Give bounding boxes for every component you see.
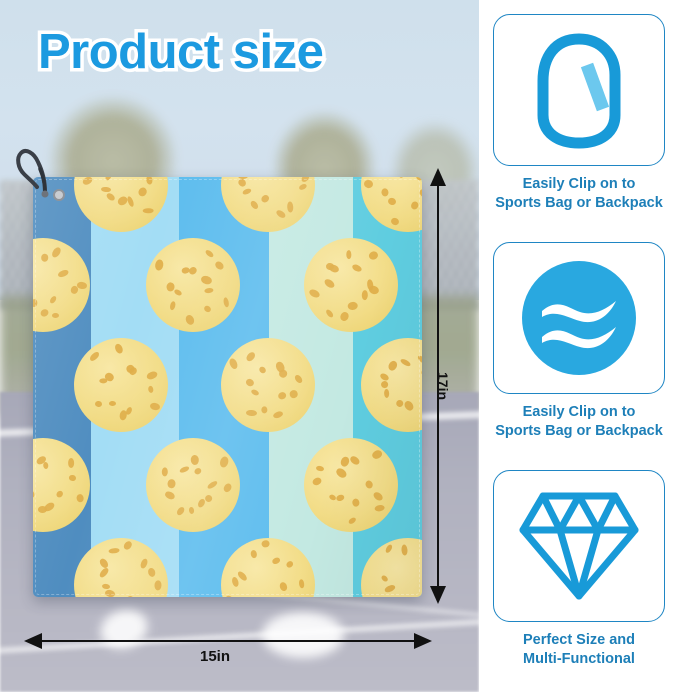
pickleball-hole	[33, 271, 35, 280]
pickleball-hole	[187, 265, 198, 276]
pickleball-hole	[203, 287, 213, 293]
pickleball-hole	[230, 576, 239, 588]
diamond-icon	[516, 488, 642, 604]
pickleball-hole	[300, 177, 310, 183]
pickleball-hole	[251, 388, 261, 396]
pickleball-hole	[222, 297, 229, 308]
pickleball-hole	[367, 279, 374, 290]
pickleball-hole	[403, 400, 415, 413]
pickleball-hole	[401, 544, 408, 555]
page-title: Product size	[38, 24, 323, 80]
pickleball-hole	[387, 197, 397, 206]
pickleball-hole	[380, 380, 389, 389]
pickleball-hole	[372, 491, 385, 503]
pickleball-hole	[189, 506, 195, 514]
pickleball-hole	[352, 498, 360, 507]
pickleball-hole	[285, 560, 295, 570]
pickleball	[74, 338, 168, 432]
pickleball-hole	[145, 177, 152, 184]
pickleball-hole	[57, 268, 69, 278]
pickleball-hole	[289, 389, 299, 399]
pickleball-hole	[421, 594, 422, 597]
pickleball-hole	[246, 410, 257, 417]
pickleball-hole	[399, 358, 411, 368]
pickleball-hole	[114, 342, 124, 354]
background-blur-object	[262, 612, 344, 658]
pickleball-hole	[136, 186, 148, 198]
pickleball-hole	[52, 313, 59, 318]
arrow-right-icon	[414, 633, 432, 649]
pickleball-hole	[237, 570, 249, 582]
pickleball-hole	[109, 547, 120, 553]
feature-caption-line: Easily Clip on to	[495, 403, 663, 422]
feature-caption-line: Multi-Functional	[523, 650, 635, 669]
pickleball-hole	[219, 455, 230, 468]
pickleball-hole	[312, 477, 323, 487]
pickleball-hole	[109, 401, 116, 406]
pickleball	[33, 238, 90, 332]
pickleball-hole	[384, 389, 390, 398]
pickleball-hole	[164, 490, 176, 500]
feature-caption: Easily Clip on to Sports Bag or Backpack	[495, 403, 663, 441]
pickleball-hole	[148, 385, 154, 393]
pickleball-hole	[169, 301, 176, 311]
pickleball-hole	[99, 567, 110, 579]
width-dimension-label: 15in	[200, 648, 230, 665]
pickleball-hole	[33, 299, 38, 308]
feature-list-panel: Easily Clip on to Sports Bag or Backpack…	[479, 0, 679, 692]
height-dimension-label: 17in	[435, 372, 451, 400]
pickleball	[146, 238, 240, 332]
pickleball-hole	[420, 546, 422, 558]
pickleball-hole	[69, 474, 77, 481]
pickleball-hole	[250, 200, 260, 211]
carabiner-clip	[12, 140, 58, 202]
pickleball-hole	[122, 540, 133, 552]
pickleball-hole	[379, 372, 390, 382]
pickleball-hole	[415, 177, 422, 181]
pickleball-hole	[147, 567, 157, 578]
pickleball	[361, 538, 422, 597]
pickleball-hole	[207, 480, 219, 490]
pickleball-hole	[154, 580, 161, 590]
pickleball-towel	[33, 177, 422, 597]
product-size-infographic: Product size 17in 15in	[0, 0, 679, 692]
pickleball-hole	[81, 177, 94, 187]
feature-caption-line: Sports Bag or Backpack	[495, 194, 663, 213]
pickleball	[221, 177, 315, 232]
pickleball-hole	[250, 550, 257, 559]
pickleball-hole	[384, 584, 396, 593]
pickleball	[361, 338, 422, 432]
pickleball-hole	[168, 479, 177, 489]
pickleball-hole	[245, 378, 255, 388]
pickleball-hole	[222, 482, 233, 493]
pickleball-hole	[200, 275, 212, 286]
pickleball-hole	[417, 188, 422, 200]
pickleball-hole	[98, 557, 109, 569]
pickleball-hole	[417, 354, 422, 364]
feature-card-quick-dry: Easily Clip on to Sports Bag or Backpack	[489, 242, 669, 458]
pickleball-hole	[161, 467, 167, 477]
feature-card-multi-functional: Perfect Size and Multi-Functional	[489, 470, 669, 686]
pickleball-hole	[224, 594, 235, 597]
pickleball-hole	[146, 370, 158, 380]
pickleball-hole	[95, 401, 103, 408]
pickleball-hole	[214, 260, 225, 271]
arrow-left-icon	[24, 633, 42, 649]
pickleball-hole	[328, 494, 337, 502]
pickleball-hole	[205, 249, 215, 258]
pickleball-hole	[238, 177, 248, 179]
pickleball	[304, 238, 398, 332]
pickleball-hole	[410, 201, 419, 211]
pickleball-hole	[33, 489, 35, 499]
pickleball-hole	[245, 351, 257, 363]
pickleball-hole	[396, 177, 404, 178]
pickleball-hole	[38, 506, 47, 513]
pickleball-pattern-group	[33, 177, 422, 597]
pickleball-hole	[191, 455, 199, 465]
pickleball-hole	[258, 366, 267, 375]
pickleball-hole	[242, 187, 253, 195]
pickleball-hole	[363, 179, 373, 189]
pickleball-hole	[374, 504, 385, 512]
pickleball-hole	[54, 489, 63, 498]
pickleball	[221, 538, 315, 597]
product-photo-panel: Product size 17in 15in	[0, 0, 479, 692]
pickleball	[74, 538, 168, 597]
pickleball-hole	[100, 186, 111, 192]
pickleball-hole	[203, 304, 212, 313]
arrow-down-icon	[430, 586, 446, 604]
pickleball-hole	[196, 498, 206, 509]
pickleball-hole	[368, 250, 379, 260]
pickleball-hole	[348, 301, 359, 310]
carabiner-clip-icon	[525, 29, 633, 151]
pickleball-hole	[351, 263, 362, 272]
pickleball-hole	[387, 360, 399, 372]
feature-caption: Easily Clip on to Sports Bag or Backpack	[495, 175, 663, 213]
pickleball-hole	[126, 595, 137, 597]
feature-icon-box	[493, 14, 665, 166]
pickleball-hole	[390, 217, 400, 226]
pickleball-hole	[139, 558, 148, 570]
pickleball-hole	[76, 493, 84, 503]
pickleball-hole	[335, 494, 345, 502]
pickleball-hole	[260, 193, 271, 204]
pickleball-hole	[272, 411, 284, 420]
pickleball-hole	[77, 281, 88, 289]
pickleball-hole	[49, 295, 58, 305]
pickleball-hole	[68, 458, 74, 468]
pickleball-hole	[384, 543, 393, 554]
pickleball-hole	[346, 250, 352, 259]
pickleball-hole	[261, 540, 270, 548]
arrow-up-icon	[430, 168, 446, 186]
feature-icon-box	[493, 242, 665, 394]
feature-caption: Perfect Size and Multi-Functional	[523, 631, 635, 669]
pickleball-hole	[43, 462, 49, 470]
pickleball-hole	[228, 357, 239, 370]
pickleball-hole	[293, 373, 303, 384]
pickleball-hole	[277, 391, 287, 400]
water-waves-icon	[518, 257, 640, 379]
pickleball-hole	[323, 277, 336, 289]
pickleball-hole	[173, 288, 183, 296]
pickleball-hole	[325, 309, 335, 319]
pickleball-hole	[279, 582, 289, 593]
pickleball-hole	[104, 589, 115, 597]
pickleball-hole	[328, 263, 340, 274]
pickleball-hole	[362, 290, 368, 300]
pickleball	[33, 438, 90, 532]
pickleball-hole	[395, 399, 404, 408]
feature-icon-box	[493, 470, 665, 622]
pickleball-hole	[371, 449, 384, 460]
pickleball-hole	[382, 188, 389, 197]
pickleball-hole	[349, 454, 361, 465]
pickleball-hole	[335, 467, 348, 480]
pickleball	[221, 338, 315, 432]
pickleball	[74, 177, 168, 232]
pickleball-hole	[50, 246, 62, 259]
pickleball-hole	[143, 208, 154, 213]
pickleball-hole	[105, 191, 116, 202]
pickleball-hole	[308, 288, 321, 299]
pickleball-hole	[149, 402, 160, 411]
pickleball-hole	[39, 307, 50, 317]
pickleball-hole	[155, 259, 165, 271]
pickleball	[304, 438, 398, 532]
pickleball-hole	[287, 201, 293, 212]
pickleball-hole	[364, 479, 374, 489]
feature-caption-line: Perfect Size and	[523, 631, 635, 650]
pickleball-hole	[175, 505, 185, 516]
pickleball-hole	[193, 467, 202, 476]
pickleball-hole	[128, 366, 138, 377]
width-dimension-line	[40, 640, 418, 642]
pickleball-hole	[261, 406, 267, 413]
pickleball-hole	[271, 557, 281, 566]
feature-card-clip: Easily Clip on to Sports Bag or Backpack	[489, 14, 669, 230]
pickleball	[361, 177, 422, 232]
feature-caption-line: Easily Clip on to	[495, 175, 663, 194]
pickleball-hole	[298, 182, 307, 190]
pickleball-hole	[298, 579, 305, 588]
pickleball-hole	[104, 177, 113, 181]
pickleball-hole	[41, 253, 48, 261]
pickleball-hole	[184, 314, 195, 326]
pickleball-hole	[380, 575, 389, 584]
pickleball-hole	[178, 465, 190, 474]
pickleball-hole	[88, 350, 100, 362]
pickleball-hole	[315, 465, 323, 471]
pickleball-hole	[339, 311, 350, 323]
pickleball-hole	[347, 516, 357, 525]
pickleball-hole	[275, 209, 286, 219]
pickleball-hole	[102, 583, 111, 590]
feature-caption-line: Sports Bag or Backpack	[495, 422, 663, 441]
pickleball	[146, 438, 240, 532]
pickleball-hole	[420, 366, 422, 377]
